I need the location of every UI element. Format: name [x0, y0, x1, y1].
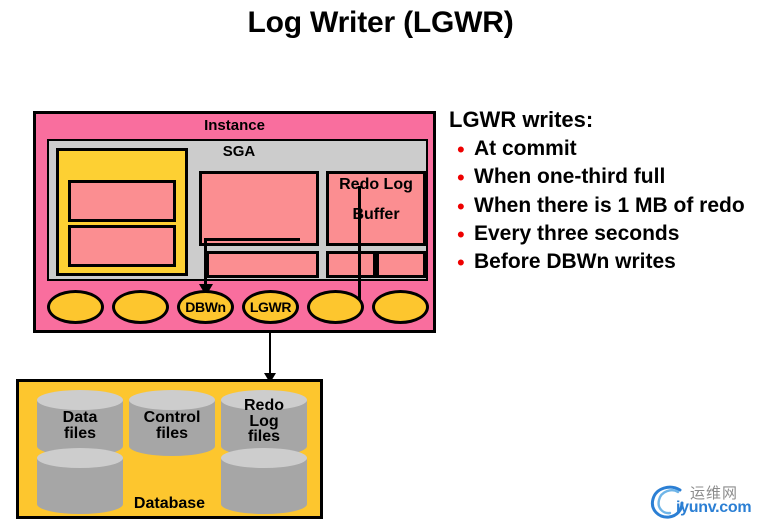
- bullet-text-1: At commit: [474, 137, 577, 162]
- redo-log-sub-block-1: [326, 251, 376, 278]
- bullet-dot-icon: •: [457, 222, 474, 247]
- cylinder-control-files: Control files: [129, 390, 215, 446]
- cylinder-label-line1: Redo: [221, 398, 307, 414]
- database-box: Data files Control files Re: [16, 379, 323, 519]
- bullet-text-2: When one-third full: [474, 165, 665, 190]
- cylinder-stack-data-files: Data files: [37, 390, 123, 504]
- redo-log-buffer-box: Redo Log Buffer: [326, 171, 426, 246]
- buffer-cache-slot-2: [68, 225, 176, 267]
- database-label: Database: [19, 495, 320, 513]
- cylinder-label-control-files: Control files: [129, 410, 215, 441]
- bullet-text-4: Every three seconds: [474, 222, 679, 247]
- connector-sga-to-dbwn-horizontal: [204, 238, 300, 241]
- page-title: Log Writer (LGWR): [0, 6, 761, 40]
- redo-log-sub-block-2: [376, 251, 426, 278]
- process-oval-2: [112, 290, 169, 324]
- bullet-text-5: Before DBWn writes: [474, 250, 676, 275]
- cylinder-data-files-top: Data files: [37, 390, 123, 446]
- cylinder-label-line2: Log: [221, 414, 307, 430]
- watermark: 运维网 iyunv.com: [648, 482, 758, 522]
- bullet-item-4: • Every three seconds: [457, 222, 754, 247]
- connector-redo-buffer-vertical: [358, 186, 361, 307]
- shared-pool-box: [199, 171, 319, 246]
- connector-sga-to-dbwn-vertical: [204, 238, 207, 288]
- cylinder-stack-redo-log-files: Redo Log files: [221, 390, 307, 504]
- bullet-item-1: • At commit: [457, 137, 754, 162]
- cylinder-top-ellipse: [37, 448, 123, 468]
- redo-log-buffer-label-line1: Redo Log: [339, 176, 413, 193]
- cylinder-top-ellipse: [221, 448, 307, 468]
- bullet-dot-icon: •: [457, 137, 474, 162]
- process-oval-dbwn: DBWn: [177, 290, 234, 324]
- cylinder-label-line2: files: [129, 426, 215, 442]
- watermark-text-en: iyunv.com: [676, 499, 751, 517]
- bullet-dot-icon: •: [457, 250, 474, 275]
- bullet-item-3: • When there is 1 MB of redo: [457, 194, 754, 219]
- process-oval-5: [372, 290, 429, 324]
- bullet-dot-icon: •: [457, 194, 474, 219]
- instance-label: Instance: [36, 117, 433, 134]
- cylinder-redo-log-files-top: Redo Log files: [221, 390, 307, 446]
- cylinder-label-redo-log-files: Redo Log files: [221, 398, 307, 445]
- bullet-dot-icon: •: [457, 165, 474, 190]
- bullet-item-5: • Before DBWn writes: [457, 250, 754, 275]
- cylinder-label-line3: files: [221, 429, 307, 445]
- process-oval-1: [47, 290, 104, 324]
- buffer-cache-box: [56, 148, 188, 276]
- bullets-panel: LGWR writes: • At commit • When one-thir…: [449, 108, 754, 279]
- cylinder-stack-control-files: Control files: [129, 390, 215, 446]
- process-oval-lgwr: LGWR: [242, 290, 299, 324]
- cylinder-top-ellipse: [37, 390, 123, 410]
- cylinder-label-line1: Control: [129, 410, 215, 426]
- bullet-item-2: • When one-third full: [457, 165, 754, 190]
- connector-instance-to-database-line: [269, 333, 271, 377]
- process-oval-4: [307, 290, 364, 324]
- sga-box: SGA Redo Log Buffer: [47, 139, 428, 281]
- instance-box: Instance SGA Redo Log Buffer DBWn LGWR: [33, 111, 436, 333]
- cylinder-label-data-files: Data files: [37, 410, 123, 441]
- cylinder-top-ellipse: [129, 390, 215, 410]
- bullet-text-3: When there is 1 MB of redo: [474, 194, 745, 219]
- shared-pool-strip: [206, 251, 319, 278]
- buffer-cache-slot-1: [68, 180, 176, 222]
- bullets-heading: LGWR writes:: [449, 108, 754, 131]
- cylinder-label-line1: Data: [37, 410, 123, 426]
- redo-log-buffer-label-line2: Buffer: [329, 207, 423, 224]
- cylinder-label-line2: files: [37, 426, 123, 442]
